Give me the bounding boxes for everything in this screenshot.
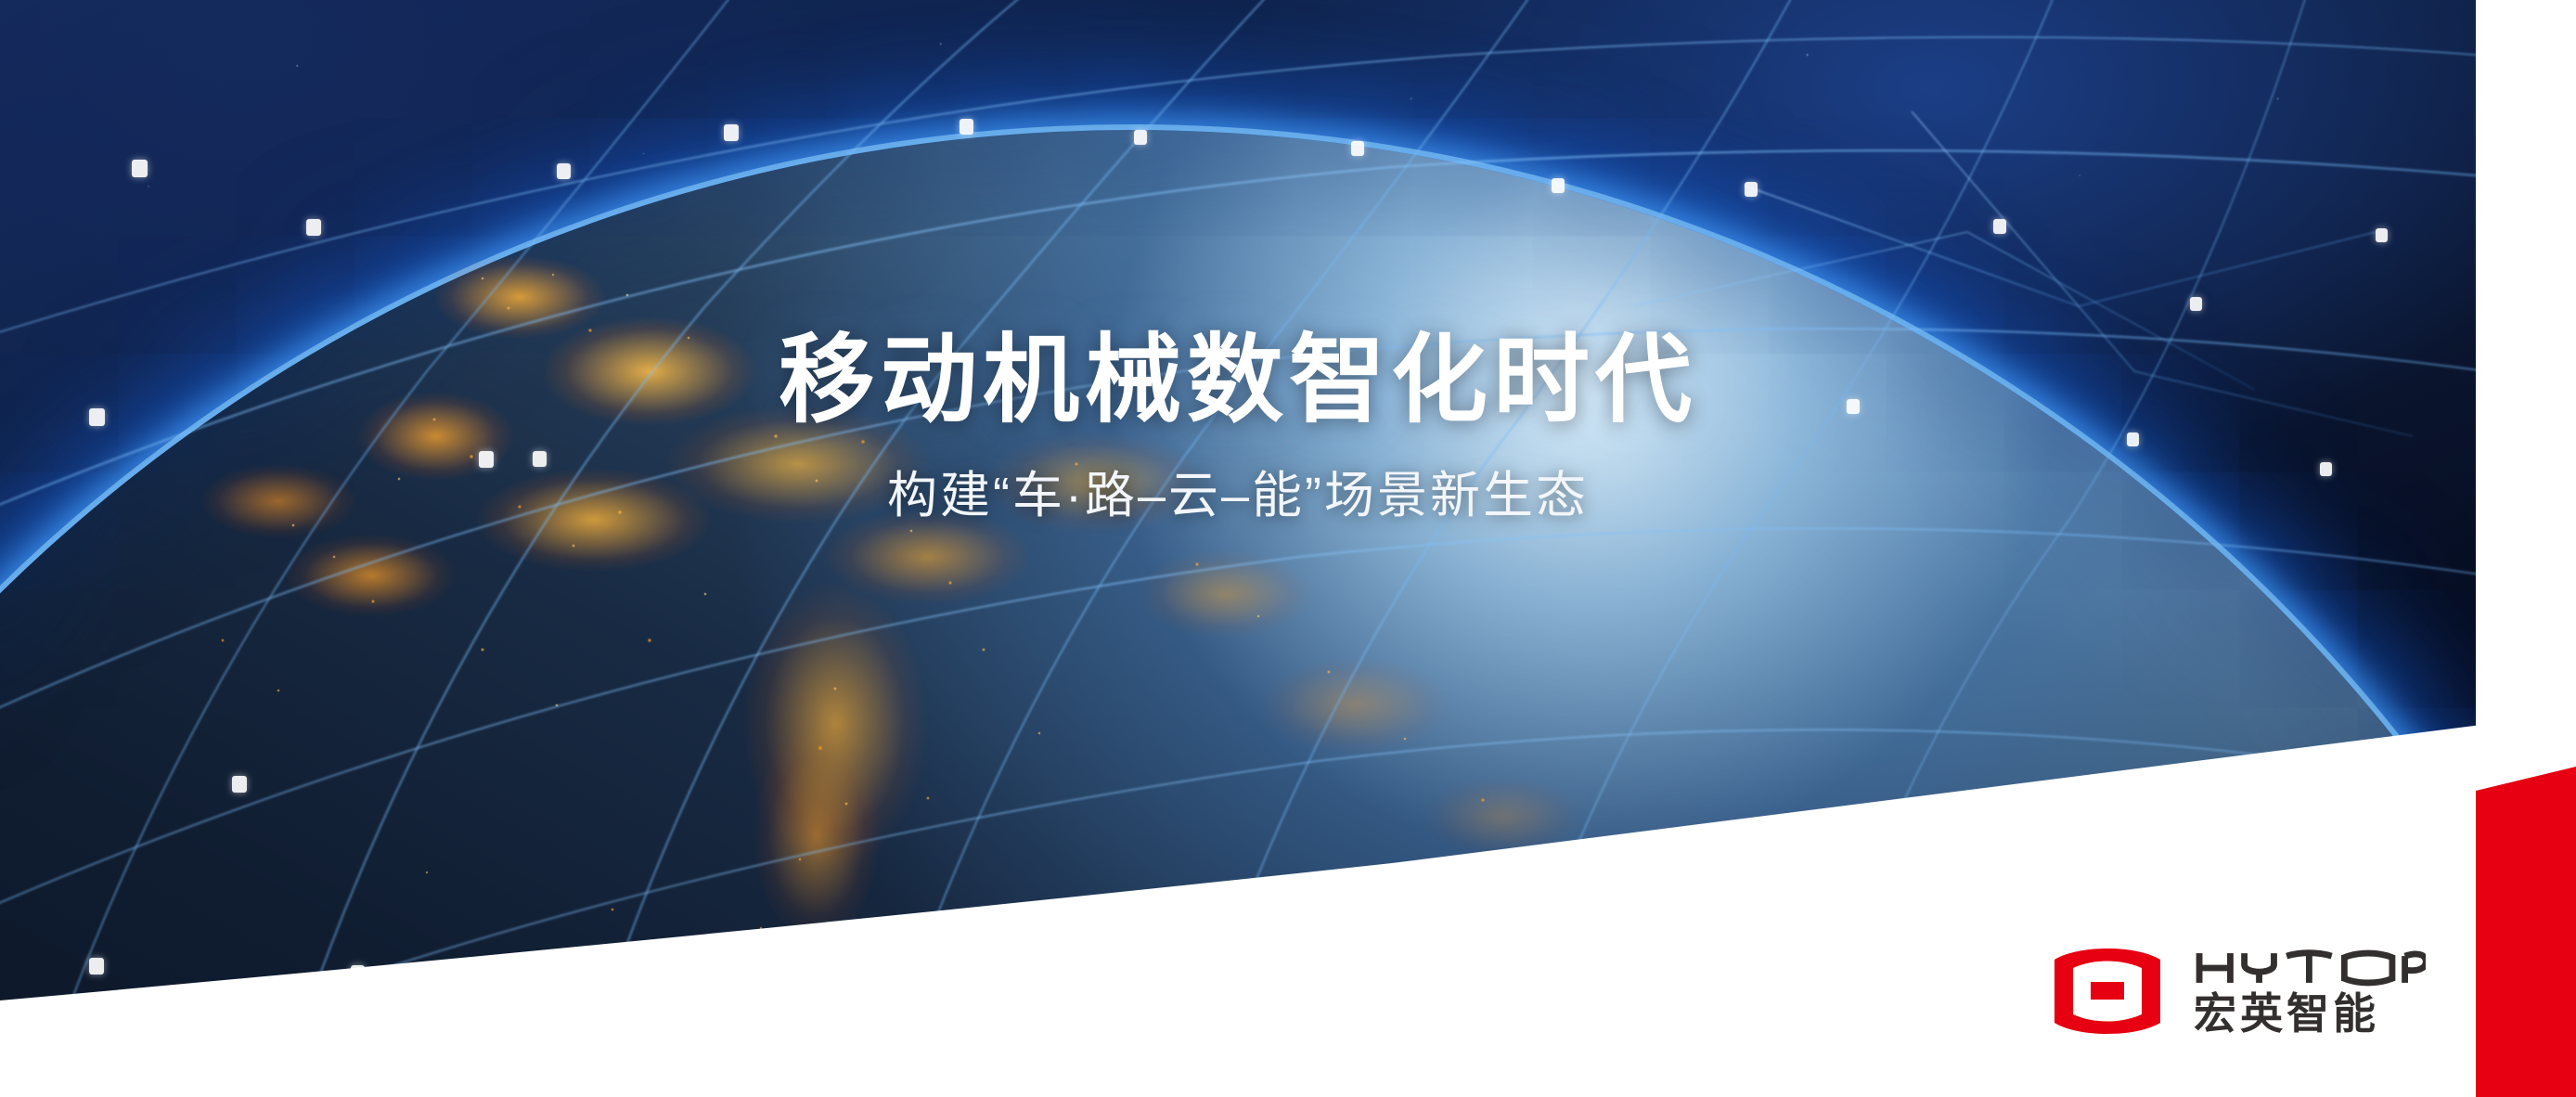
brand-name-cn: 宏英智能: [2194, 992, 2426, 1035]
logo-text-lockup: 宏英智能: [2194, 948, 2426, 1035]
background-photo: [0, 0, 2476, 1097]
title-slide: 移动机械数智化时代 构建“车·路–云–能”场景新生态: [0, 0, 2576, 1097]
hytop-wordmark: [2194, 948, 2426, 988]
hytop-logo: 宏英智能: [2053, 943, 2426, 1039]
hytop-g-mark-icon: [2053, 943, 2162, 1039]
earth-globe: [0, 0, 2476, 1097]
